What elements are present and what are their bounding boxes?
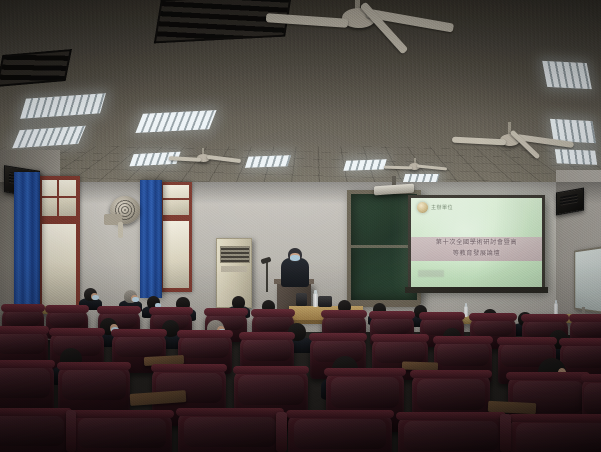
armrest xyxy=(500,414,511,452)
armrest xyxy=(66,410,76,452)
microphone-stand xyxy=(266,262,268,292)
ceiling-vent-icon xyxy=(0,49,72,87)
slide-footer-tag xyxy=(418,270,444,277)
projection-screen: 主辦單位 第十次全國學術研討會暨高 等教育發展論壇 xyxy=(408,195,545,290)
seat[interactable] xyxy=(398,416,504,452)
audience-person xyxy=(84,288,97,301)
ceiling-fan xyxy=(470,122,600,162)
organization-logo-icon xyxy=(417,202,428,213)
speaker-head xyxy=(288,248,302,262)
whiteboard xyxy=(574,246,601,314)
speaker-torso xyxy=(281,258,309,287)
curtain-left xyxy=(14,172,40,314)
window-left xyxy=(38,176,80,310)
seat[interactable] xyxy=(178,412,282,452)
presentation-slide: 主辦單位 第十次全國學術研討會暨高 等教育發展論壇 xyxy=(411,198,542,287)
equipment-box xyxy=(318,296,332,307)
window-center xyxy=(160,182,192,292)
ceiling-fan xyxy=(300,0,480,60)
ceiling-light-panel xyxy=(542,61,592,89)
slide-title-line-2: 等教育發展論壇 xyxy=(411,250,542,257)
seat[interactable] xyxy=(72,414,172,452)
curtain-center xyxy=(140,180,162,298)
seat[interactable] xyxy=(288,414,392,452)
ceiling-fan xyxy=(178,148,258,174)
seat[interactable] xyxy=(510,418,601,452)
wall-speaker-right-icon xyxy=(556,188,584,216)
equipment-box xyxy=(296,293,307,306)
slide-title-line-1: 第十次全國學術研討會暨高 xyxy=(411,239,542,246)
audience-person xyxy=(124,290,137,303)
armrest xyxy=(276,412,287,452)
slide-org-label: 主辦單位 xyxy=(431,204,453,211)
lecture-hall-photo: 主辦單位 第十次全國學術研討會暨高 等教育發展論壇 xyxy=(0,0,601,452)
wall-fan xyxy=(104,196,140,240)
seat[interactable] xyxy=(0,412,70,452)
ceiling-fan xyxy=(392,158,462,180)
ceiling xyxy=(0,0,601,192)
ceiling-light-panel xyxy=(343,159,386,170)
